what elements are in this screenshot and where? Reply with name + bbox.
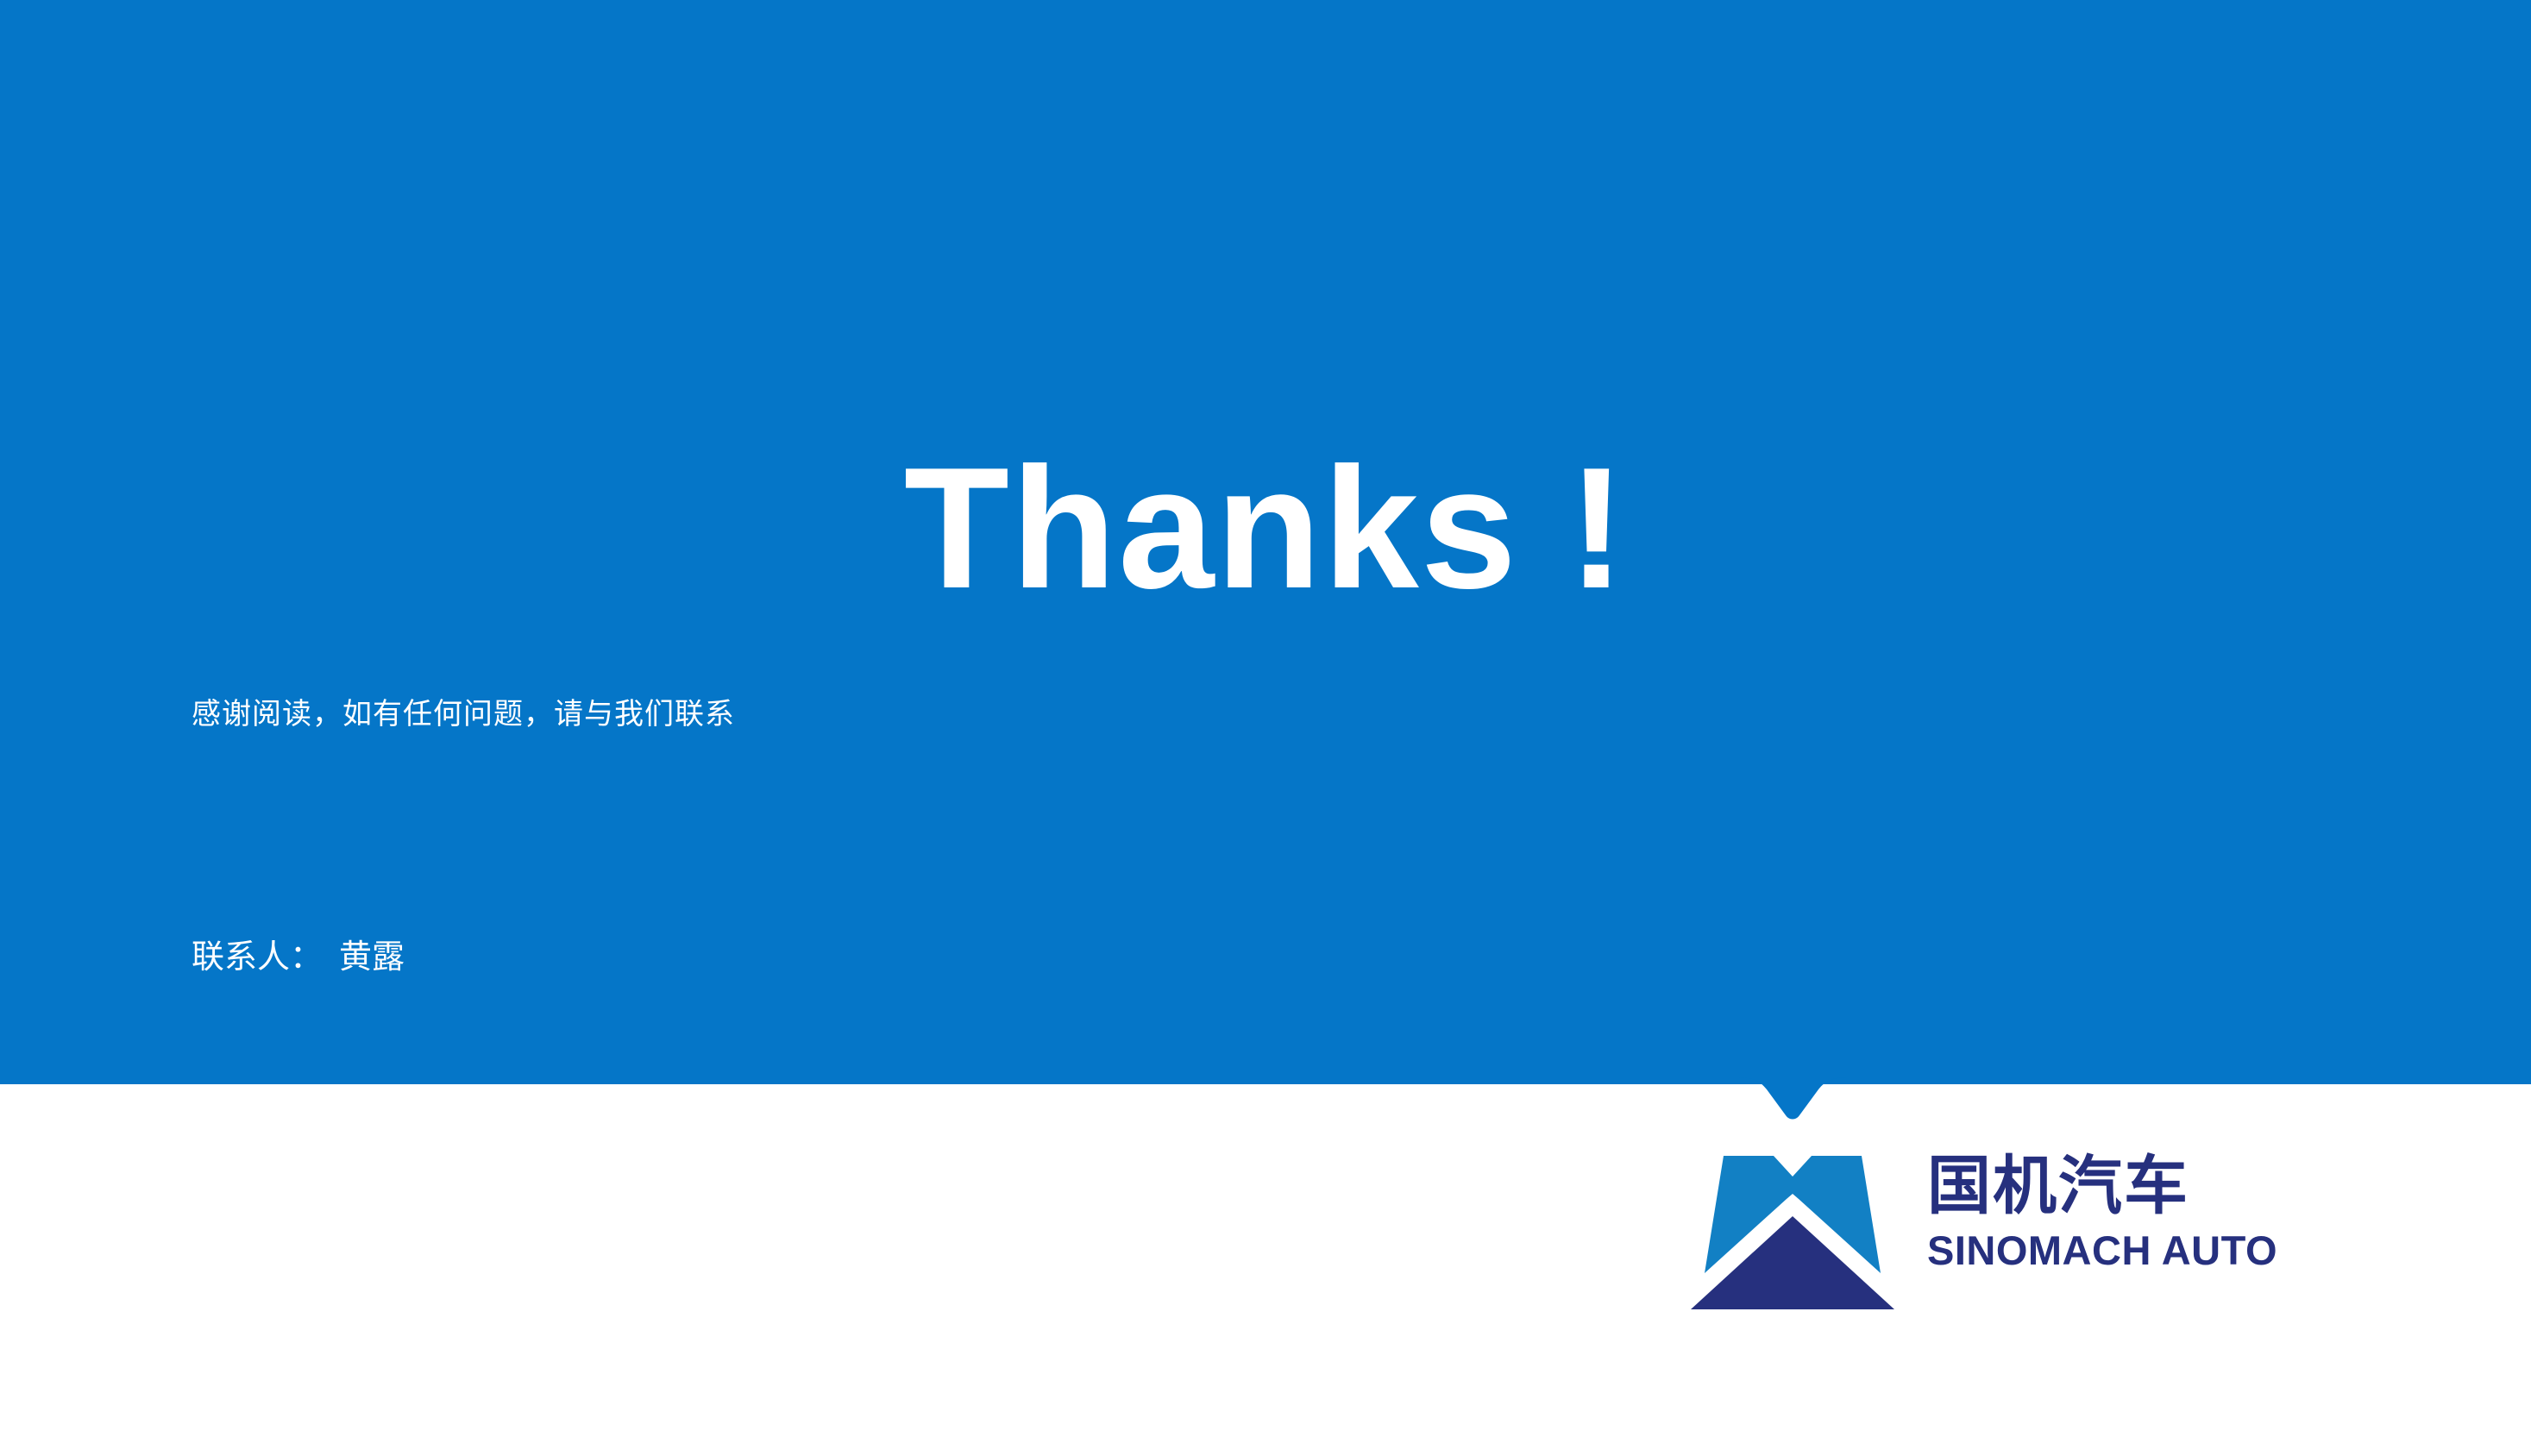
page-title: Thanks ! <box>0 438 2531 619</box>
contact-row-person: 联系人： 黄露 <box>192 928 644 987</box>
contact-row-phone: 联系方式：010-82169203 <box>192 1104 644 1163</box>
contact-value-person: 黄露 <box>306 939 405 976</box>
sinomach-auto-logo: 国机汽车 SINOMACH AUTO <box>1684 1145 2279 1327</box>
intro-text: 感谢阅读，如有任何问题，请与我们联系 <box>192 690 735 732</box>
mountain-logo-icon <box>1684 1145 1901 1315</box>
panel-notch-tab <box>1736 1077 1850 1126</box>
contact-label-phone: 联系方式： <box>192 1115 355 1152</box>
contact-value-phone: 010-82169203 <box>355 1115 567 1152</box>
contact-label-person: 联系人： <box>192 939 306 976</box>
contact-label-email: 邮 箱： <box>192 1291 355 1327</box>
contact-row-email: 邮 箱：huanglu@ctcai.com <box>192 1280 644 1339</box>
contact-info-block: 联系人： 黄露 联系方式：010-82169203 邮 箱：huanglu@ct… <box>192 811 644 1456</box>
logo-english-name: SINOMACH AUTO <box>1927 1227 2272 1275</box>
logo-wordmark: 国机汽车 SINOMACH AUTO <box>1927 1151 2272 1275</box>
contact-value-email: huanglu@ctcai.com <box>355 1291 644 1327</box>
logo-chinese-name: 国机汽车 <box>1927 1151 2272 1221</box>
slide-canvas: Thanks ! 感谢阅读，如有任何问题，请与我们联系 联系人： 黄露 联系方式… <box>0 0 2531 1423</box>
